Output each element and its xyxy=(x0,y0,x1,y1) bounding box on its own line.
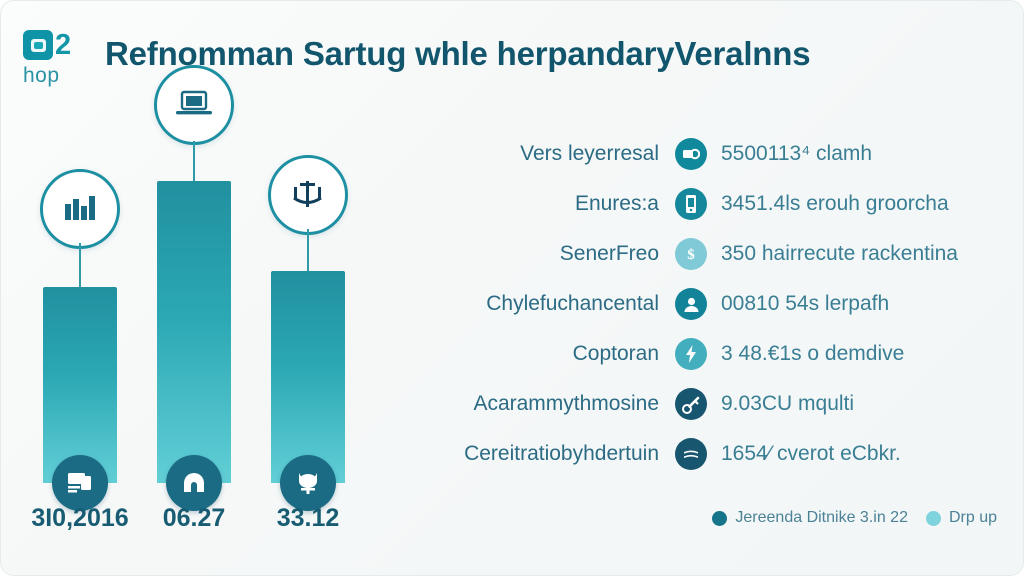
bar-rect xyxy=(43,287,117,483)
list-item-label: SenerFreo xyxy=(381,242,675,266)
legend-label: Drp up xyxy=(949,509,997,527)
camera-tag-icon xyxy=(675,138,707,170)
phone-device-icon xyxy=(675,188,707,220)
list-item[interactable]: Enures:a 3451.4ls erouh groorcha xyxy=(381,179,1011,229)
cat-face-icon xyxy=(295,470,321,496)
bar-group xyxy=(43,287,117,483)
bar-label: 06.27 xyxy=(163,504,226,533)
list-item-value: 1654⁄ cverot eCbkr. xyxy=(707,442,901,466)
person-icon xyxy=(675,288,707,320)
bar-top-badge xyxy=(154,65,234,145)
list-item-label: Enures:a xyxy=(381,192,675,216)
arch-shield-icon xyxy=(181,471,207,495)
bar-top-badge xyxy=(40,169,120,249)
list-item-value: 350 hairrecute rackentina xyxy=(707,242,958,266)
list-item-value: 00810 54s lerpafh xyxy=(707,292,889,316)
bar-rect xyxy=(271,271,345,483)
chart-legend: Jereenda Ditnike 3.in 22 Drp up xyxy=(712,509,997,527)
legend-label: Jereenda Ditnike 3.in 22 xyxy=(735,509,908,527)
bar-rect xyxy=(157,181,231,483)
list-item[interactable]: Coptoran 3 48.€1s o demdive xyxy=(381,329,1011,379)
brand-numeral: 2 xyxy=(55,30,70,60)
bar-base-badge xyxy=(52,455,108,511)
list-item[interactable]: Vers leyerresal 5500113⁴ clamh xyxy=(381,129,1011,179)
list-item-label: Acarammythmosine xyxy=(381,392,675,416)
bar-label: 33.12 xyxy=(277,504,340,533)
brand-word: hop xyxy=(23,64,93,88)
list-item[interactable]: Cereitratiobyhdertuin 1654⁄ cverot eCbkr… xyxy=(381,429,1011,479)
list-item-label: Chylefuchancental xyxy=(381,292,675,316)
bar-stem xyxy=(193,141,195,181)
brand-logo: 2 hop xyxy=(23,27,93,91)
page-title: Refnomman Sartug whle herpandaryVeralnns xyxy=(105,35,1005,73)
metrics-list: Vers leyerresal 5500113⁴ clamh Enures:a … xyxy=(381,129,1011,479)
bar-stem xyxy=(307,229,309,271)
list-item-value: 9.03CU mqulti xyxy=(707,392,854,416)
rounded-square-logo-icon xyxy=(23,30,53,60)
laptop-icon xyxy=(175,90,213,120)
bar-base-badge xyxy=(280,455,336,511)
bar-stem xyxy=(79,243,81,287)
lightning-bolt-icon xyxy=(675,338,707,370)
list-item-value: 5500113⁴ clamh xyxy=(707,142,872,166)
bar-group xyxy=(157,181,231,483)
key-tool-icon xyxy=(675,388,707,420)
legend-dot-icon xyxy=(926,511,941,526)
infographic-canvas: 2 hop Refnomman Sartug whle herpandaryVe… xyxy=(0,0,1024,576)
trident-icon xyxy=(291,179,325,211)
bar-top-badge xyxy=(268,155,348,235)
legend-item[interactable]: Jereenda Ditnike 3.in 22 xyxy=(712,509,908,527)
list-item-value: 3451.4ls erouh groorcha xyxy=(707,192,949,216)
bar-group xyxy=(271,271,345,483)
list-item[interactable]: SenerFreo $ 350 hairrecute rackentina xyxy=(381,229,1011,279)
brand-mark: 2 xyxy=(23,27,93,63)
bar-label: 3I0,2016 xyxy=(31,504,128,533)
svg-text:$: $ xyxy=(687,247,695,263)
list-item-label: Cereitratiobyhdertuin xyxy=(381,442,675,466)
stack-lines-icon xyxy=(675,438,707,470)
bar-chart-icon xyxy=(63,194,97,224)
list-item-value: 3 48.€1s o demdive xyxy=(707,342,904,366)
list-item-label: Coptoran xyxy=(381,342,675,366)
bar-base-badge xyxy=(166,455,222,511)
list-item[interactable]: Acarammythmosine 9.03CU mqulti xyxy=(381,379,1011,429)
card-document-icon xyxy=(67,471,93,495)
list-item-label: Vers leyerresal xyxy=(381,142,675,166)
bar-chart: 3I0,2016 06.27 33.12 xyxy=(21,121,371,541)
list-item[interactable]: Chylefuchancental 00810 54s lerpafh xyxy=(381,279,1011,329)
legend-dot-icon xyxy=(712,511,727,526)
dollar-sign-icon: $ xyxy=(675,238,707,270)
legend-item[interactable]: Drp up xyxy=(926,509,997,527)
